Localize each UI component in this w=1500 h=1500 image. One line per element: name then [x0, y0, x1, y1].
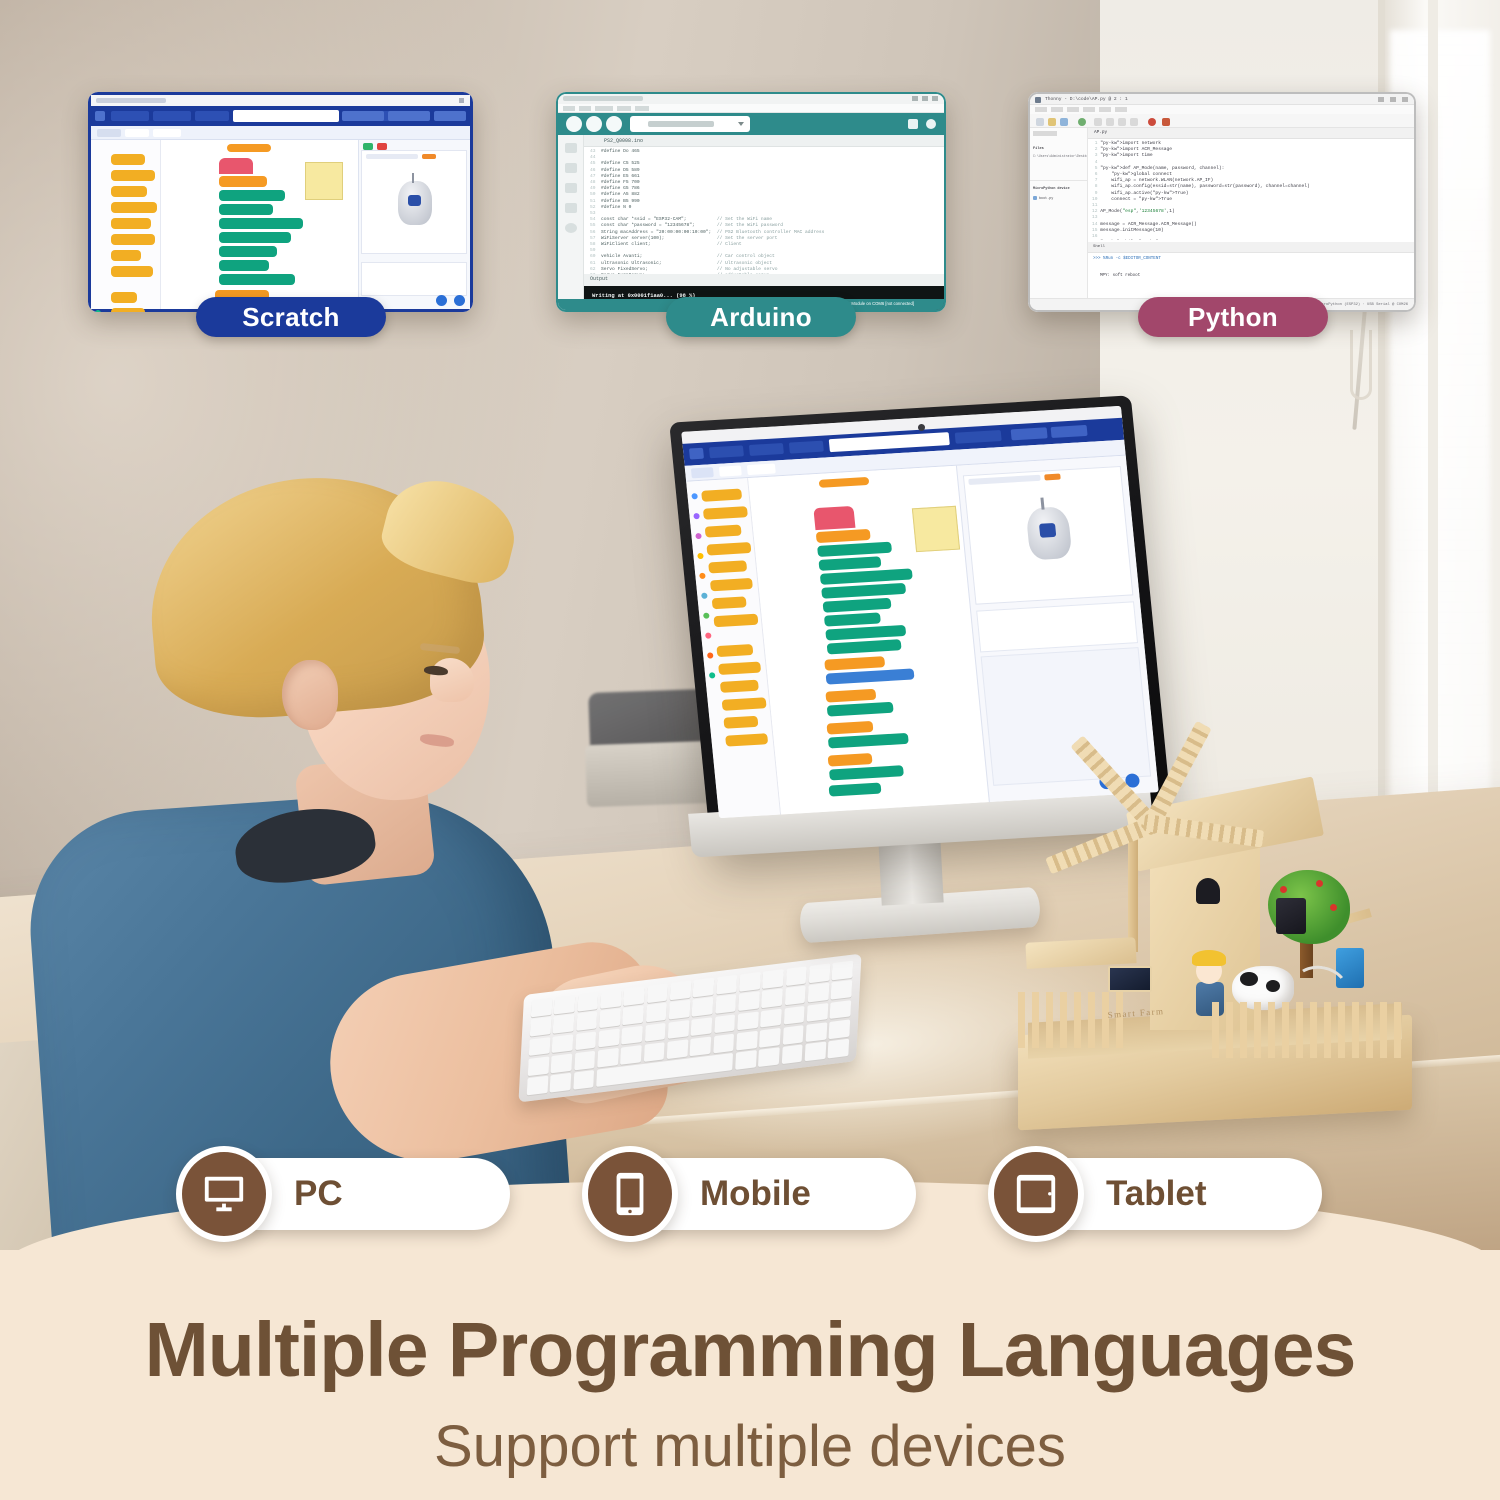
arduino-debugger-icon[interactable]: [565, 203, 577, 213]
smartphone-icon: [607, 1171, 653, 1217]
arduino-file-tab[interactable]: PS2_Q0008.ino: [584, 135, 944, 147]
arduino-debug-button[interactable]: [606, 116, 622, 132]
python-sidebar-header: [1033, 131, 1057, 136]
python-window[interactable]: Thonny - D:\code\AP.py @ 2 : 1: [1028, 92, 1416, 312]
python-label-pill: Python: [1138, 297, 1328, 337]
thonny-app-icon: [1035, 97, 1041, 103]
device-badges: PC Mobile Tablet: [190, 1148, 1320, 1240]
farm-microcontroller-board: [1276, 898, 1306, 934]
arduino-code-editor[interactable]: 43 #define Do 465 44 45 #define C5 525 4…: [584, 147, 944, 274]
arduino-output-label: Output: [590, 276, 608, 282]
farm-shop-awning: [1025, 937, 1136, 969]
scratch-fab-help[interactable]: [454, 295, 465, 306]
python-shell[interactable]: >>> %Run -c $EDITOR_CONTENT MPY: soft re…: [1088, 252, 1414, 298]
arduino-window-frame: PS2_Q0008.ino 43 #define Do 465 44 45 #d…: [556, 92, 946, 312]
scratch-showcase-card[interactable]: Scratch: [88, 92, 478, 342]
tablet-icon: [1013, 1171, 1059, 1217]
python-file-icon: [1033, 196, 1037, 200]
child-ear: [282, 660, 338, 730]
farm-windmill-pole: [1128, 832, 1138, 952]
monitor-script-canvas[interactable]: [748, 466, 989, 815]
badge-pc-label: PC: [294, 1174, 343, 1214]
python-device-label: MicroPython device: [1033, 186, 1070, 192]
scratch-window[interactable]: [88, 92, 473, 312]
badge-mobile-label: Mobile: [700, 1174, 811, 1214]
arduino-serial-monitor-icon[interactable]: [926, 119, 936, 129]
arduino-toolbar[interactable]: [558, 113, 944, 135]
arduino-sketchbook-icon[interactable]: [565, 143, 577, 153]
monitor-comment-note: [912, 506, 960, 552]
monitor-stage: [963, 466, 1134, 605]
python-sidebar[interactable]: Files C:\Users\Administrator\Desktop Mic…: [1030, 128, 1088, 310]
mobile-icon-circle: [582, 1146, 678, 1242]
python-shell-line-1: >>> %Run -c $EDITOR_CONTENT: [1093, 256, 1161, 262]
pc-icon-circle: [176, 1146, 272, 1242]
scratch-tabbar[interactable]: [91, 126, 470, 140]
farm-oled-display: [1108, 966, 1152, 992]
scratch-stage: [361, 150, 467, 254]
arduino-titlebar: [558, 94, 944, 104]
farm-fence-left: [1018, 992, 1128, 1048]
farm-fence-right: [1212, 1002, 1408, 1058]
python-toolbar[interactable]: [1030, 114, 1414, 128]
python-run-icon[interactable]: [1078, 118, 1086, 126]
badge-mobile[interactable]: Mobile: [596, 1158, 916, 1230]
arduino-menubar[interactable]: [558, 104, 944, 113]
arduino-tab-name: PS2_Q0008.ino: [604, 138, 643, 144]
python-code-editor[interactable]: 1 "py-kw">import network 2 "py-kw">impor…: [1088, 139, 1414, 240]
python-stop-icon[interactable]: [1148, 118, 1156, 126]
child-nose: [430, 658, 474, 702]
farm-figurine-hat: [1192, 950, 1226, 966]
page-headline: Multiple Programming Languages: [0, 1306, 1500, 1395]
python-file-tab[interactable]: AP.py: [1088, 128, 1414, 139]
tablet-icon-circle: [988, 1146, 1084, 1242]
arduino-boards-manager-icon[interactable]: [565, 163, 577, 173]
python-tab-name: AP.py: [1094, 130, 1107, 136]
arduino-showcase-card[interactable]: PS2_Q0008.ino 43 #define Do 465 44 45 #d…: [556, 92, 948, 342]
python-device-file: boot.py: [1039, 196, 1053, 202]
arduino-search-icon[interactable]: [565, 223, 577, 233]
scratch-comment-note: [305, 162, 343, 200]
python-titlebar: Thonny - D:\code\AP.py @ 2 : 1: [1030, 94, 1414, 105]
python-shell-header: Shell: [1088, 242, 1414, 252]
python-debug-icon[interactable]: [1094, 118, 1102, 126]
arduino-verify-button[interactable]: [566, 116, 582, 132]
python-shell-label: Shell: [1093, 244, 1105, 250]
badge-tablet[interactable]: Tablet: [1002, 1158, 1322, 1230]
scratch-device-toolbar[interactable]: [361, 262, 467, 296]
python-files-label: Files: [1033, 146, 1044, 152]
python-step-out-icon[interactable]: [1130, 118, 1138, 126]
scratch-block-palette[interactable]: [91, 140, 161, 309]
badge-pc[interactable]: PC: [190, 1158, 510, 1230]
arduino-library-icon[interactable]: [908, 119, 918, 129]
python-menubar[interactable]: [1030, 105, 1414, 114]
badge-tablet-label: Tablet: [1106, 1174, 1206, 1214]
arduino-output-header: Output: [584, 274, 944, 286]
page-subheadline: Support multiple devices: [0, 1413, 1500, 1480]
python-step-into-icon[interactable]: [1118, 118, 1126, 126]
arduino-sidebar[interactable]: [558, 135, 584, 310]
python-code-line: 8 wifi_ap.config(essid=str(name), passwo…: [1092, 184, 1310, 190]
python-save-icon[interactable]: [1060, 118, 1068, 126]
python-window-frame: Thonny - D:\code\AP.py @ 2 : 1: [1028, 92, 1416, 312]
desktop-monitor-icon: [201, 1171, 247, 1217]
monitor-device-list[interactable]: [981, 647, 1152, 786]
python-files-path: C:\Users\Administrator\Desktop: [1033, 153, 1087, 159]
scratch-navbar[interactable]: [91, 106, 470, 126]
scratch-label-pill: Scratch: [196, 297, 386, 337]
arduino-board-selector[interactable]: [630, 116, 750, 132]
python-window-title: Thonny - D:\code\AP.py @ 2 : 1: [1045, 97, 1128, 103]
python-new-icon[interactable]: [1036, 118, 1044, 126]
python-open-icon[interactable]: [1048, 118, 1056, 126]
python-status-text: MicroPython (ESP32) · USB Serial @ COM26: [1317, 302, 1408, 308]
arduino-window[interactable]: PS2_Q0008.ino 43 #define Do 465 44 45 #d…: [556, 92, 946, 312]
python-showcase-card[interactable]: Thonny - D:\code\AP.py @ 2 : 1: [1028, 92, 1420, 342]
arduino-label-pill: Arduino: [666, 297, 856, 337]
python-shell-icon[interactable]: [1162, 118, 1170, 126]
scratch-script-area[interactable]: [161, 140, 361, 309]
arduino-upload-button[interactable]: [586, 116, 602, 132]
monitor-stand-neck: [878, 836, 943, 905]
arduino-library-manager-icon[interactable]: [565, 183, 577, 193]
python-step-over-icon[interactable]: [1106, 118, 1114, 126]
scratch-fab-upload[interactable]: [436, 295, 447, 306]
python-shell-line-2: MPY: soft reboot: [1100, 273, 1140, 279]
smart-farm-wooden-model: Smart Farm: [1000, 770, 1430, 1130]
farm-camera-module: [1196, 878, 1220, 904]
scratch-titlebar: [91, 95, 470, 106]
